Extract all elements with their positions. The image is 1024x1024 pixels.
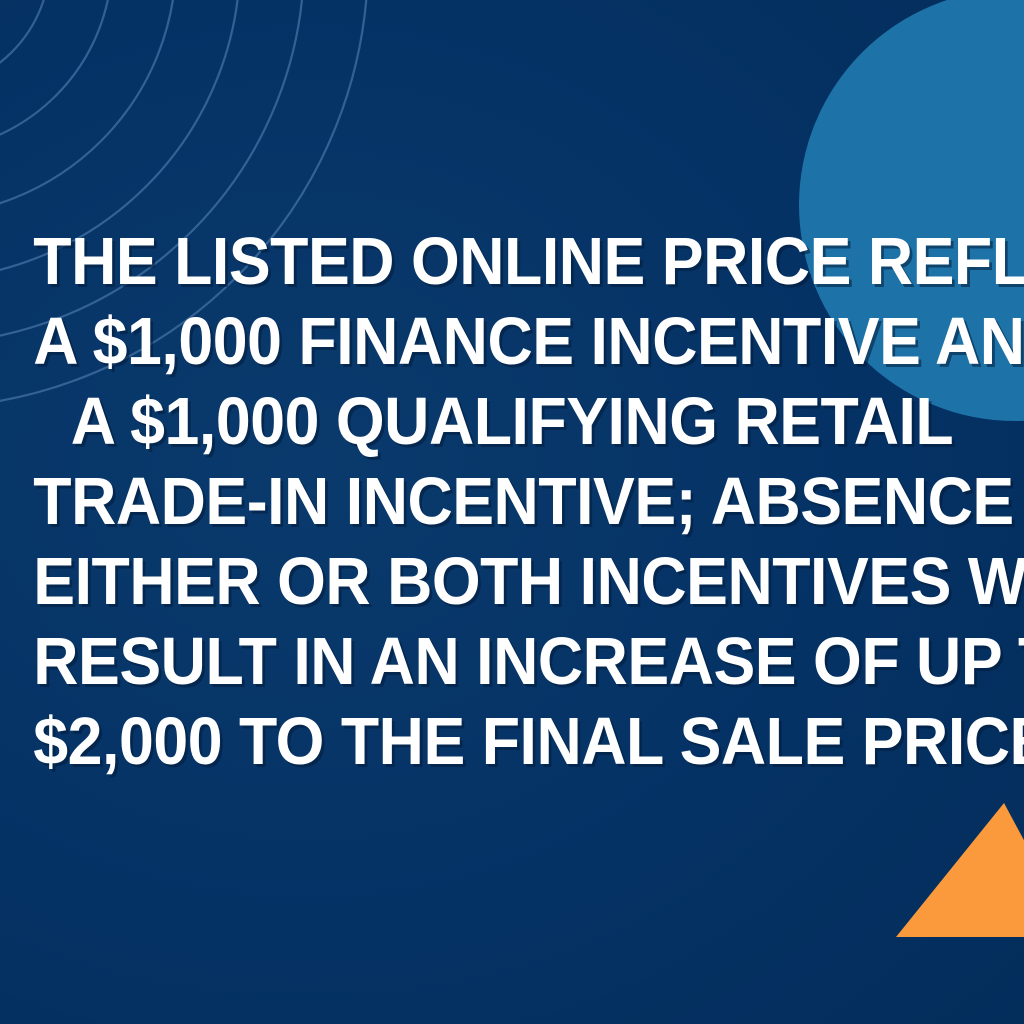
disclaimer-line-1: THE LISTED ONLINE PRICE REFLECTS xyxy=(33,222,990,302)
disclaimer-line-3: A $1,000 QUALIFYING RETAIL xyxy=(33,382,990,462)
accent-triangle-decoration xyxy=(896,803,1024,937)
disclaimer-line-6: RESULT IN AN INCREASE OF UP TO xyxy=(33,622,990,702)
disclaimer-line-7: $2,000 TO THE FINAL SALE PRICE. xyxy=(33,702,990,782)
disclaimer-text-block: THE LISTED ONLINE PRICE REFLECTS A $1,00… xyxy=(33,222,990,782)
disclaimer-line-4: TRADE-IN INCENTIVE; ABSENCE OF xyxy=(33,462,990,542)
disclaimer-line-2: A $1,000 FINANCE INCENTIVE AND xyxy=(33,302,990,382)
promotional-disclaimer-graphic: THE LISTED ONLINE PRICE REFLECTS A $1,00… xyxy=(0,0,1024,1024)
disclaimer-line-5: EITHER OR BOTH INCENTIVES WILL xyxy=(33,542,990,622)
